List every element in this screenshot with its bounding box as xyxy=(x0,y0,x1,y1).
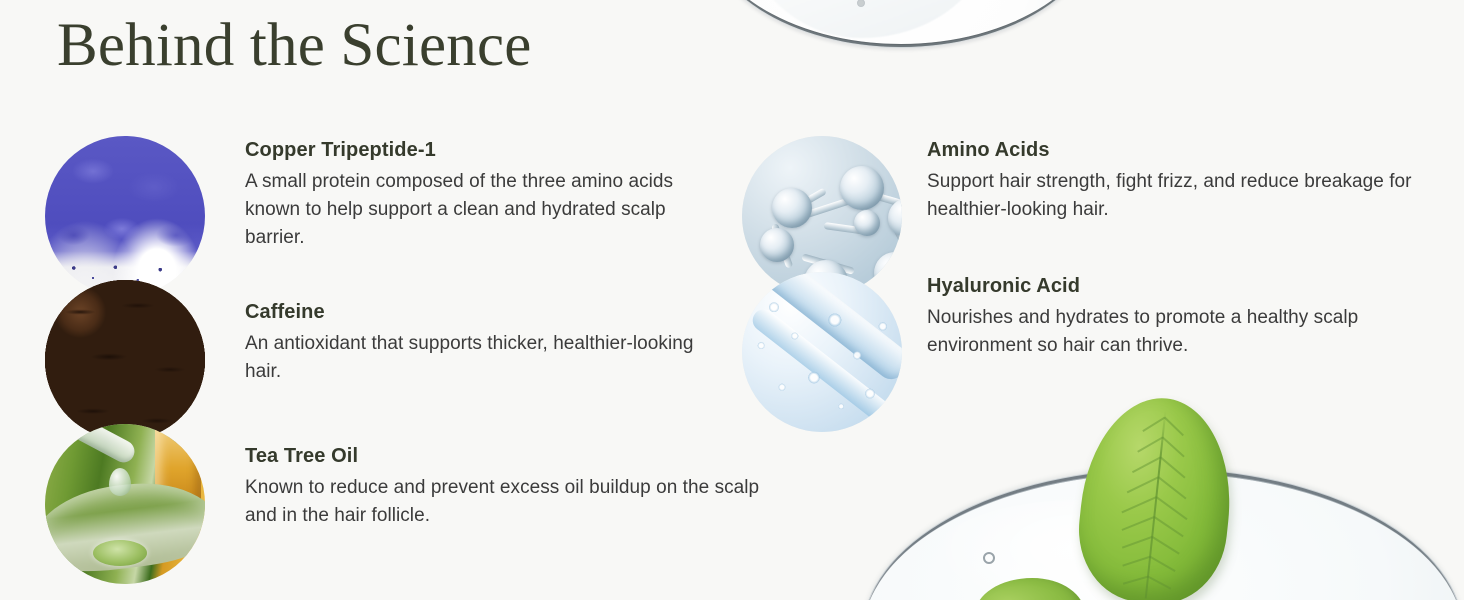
ingredient-title: Caffeine xyxy=(245,300,715,324)
petri-dish-bottom-bubble-icon xyxy=(983,552,995,564)
ingredient-description: Nourishes and hydrates to promote a heal… xyxy=(927,304,1427,360)
mint-leaf-icon xyxy=(1072,391,1241,600)
ingredient-description: An antioxidant that supports thicker, he… xyxy=(245,330,715,386)
ingredient-title: Copper Tripeptide-1 xyxy=(245,138,715,162)
ingredient-description: A small protein composed of the three am… xyxy=(245,168,715,252)
ingredient-description: Known to reduce and prevent excess oil b… xyxy=(245,474,775,530)
ingredient-title: Tea Tree Oil xyxy=(245,444,775,468)
behind-the-science-banner: Behind the Science Copper Tripeptide-1 A… xyxy=(0,0,1464,600)
ingredient-title: Hyaluronic Acid xyxy=(927,274,1427,298)
petri-dish-top-bubble-icon xyxy=(858,0,864,6)
blue-powder-icon xyxy=(45,136,205,296)
hydrating-gel-icon xyxy=(742,272,902,432)
ingredient-title: Amino Acids xyxy=(927,138,1427,162)
coffee-beans-icon xyxy=(45,280,205,440)
ingredient-description: Support hair strength, fight frizz, and … xyxy=(927,168,1427,224)
tea-tree-oil-icon xyxy=(45,424,205,584)
page-title: Behind the Science xyxy=(57,10,532,82)
